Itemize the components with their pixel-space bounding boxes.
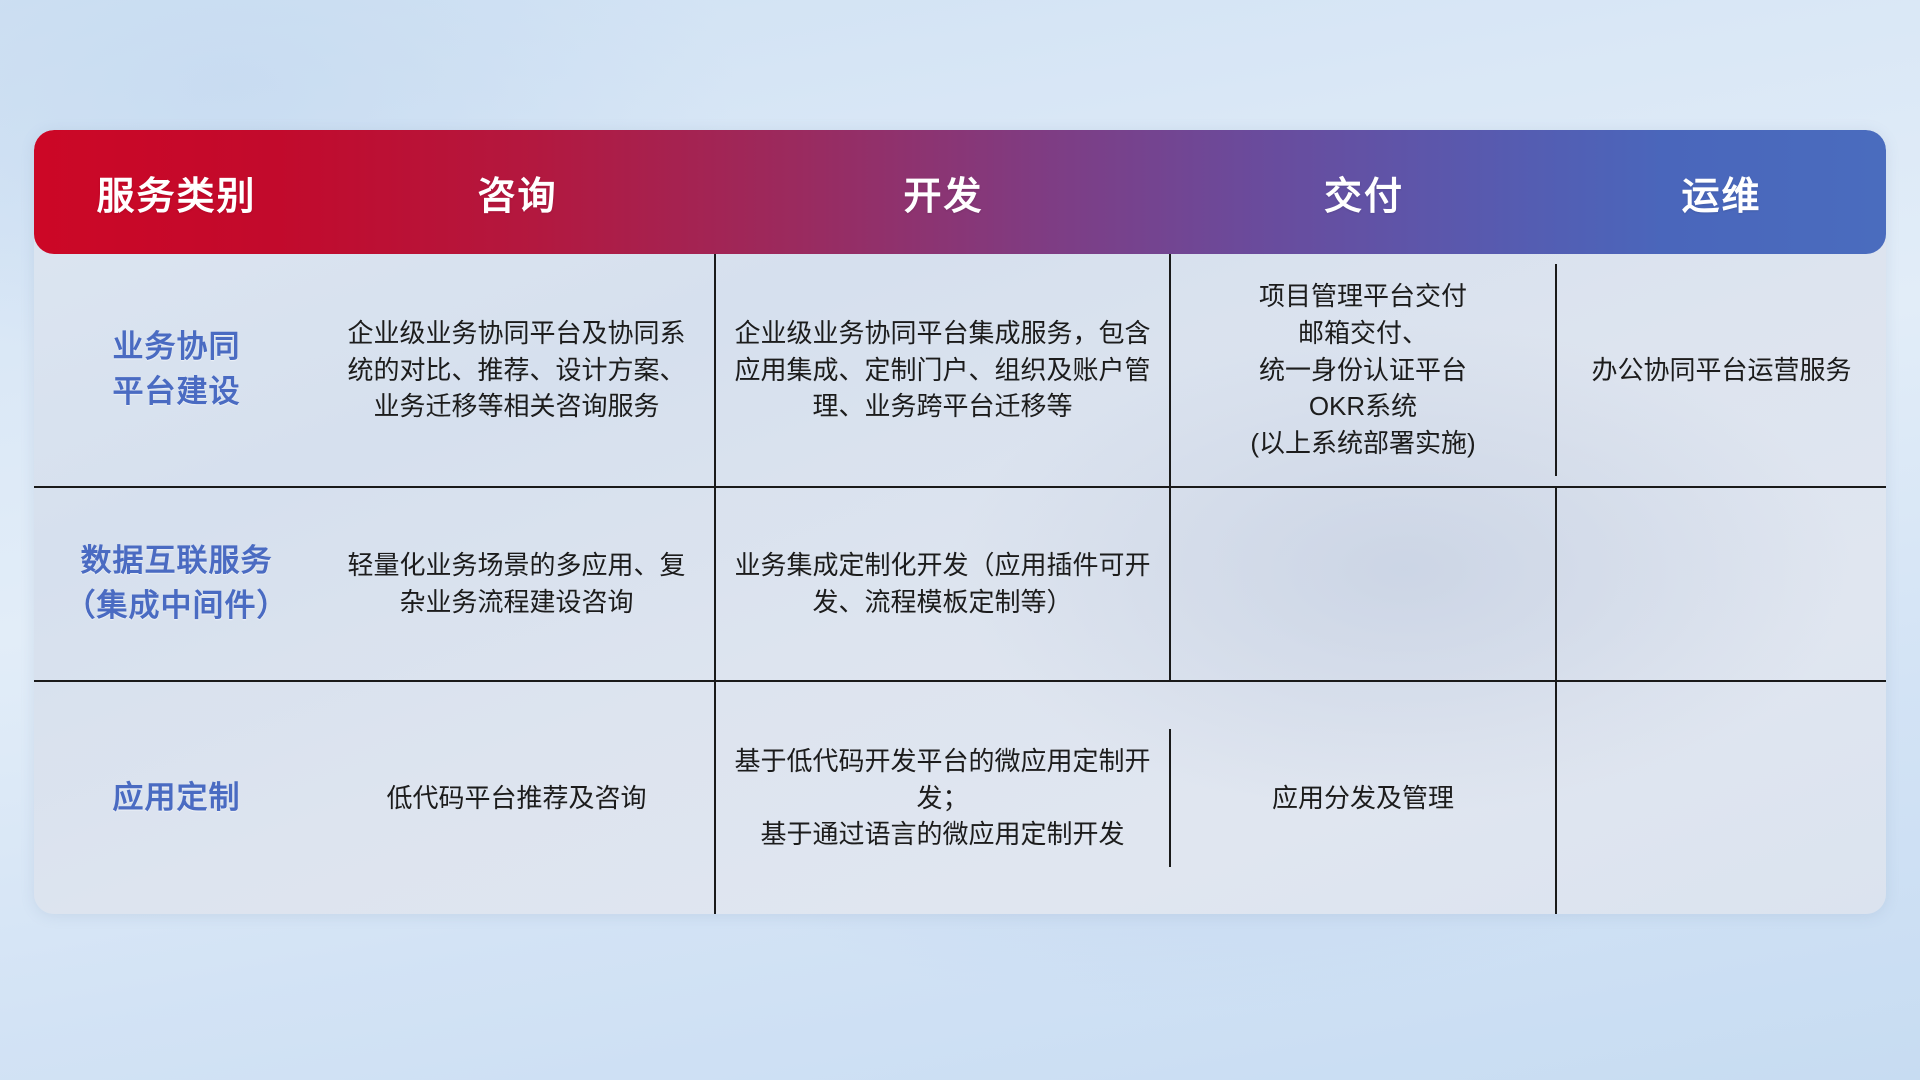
table-header-row: 服务类别 咨询 开发 交付 运维 [34, 130, 1886, 254]
table-header-cell-operations: 运维 [1557, 130, 1886, 254]
row-category-label: 业务协同平台建设 [34, 311, 319, 429]
table-header-cell-development: 开发 [716, 130, 1171, 254]
cell-consulting: 低代码平台推荐及咨询 [319, 682, 716, 914]
cell-delivery: 应用分发及管理 [1171, 682, 1557, 914]
cell-development: 业务集成定制化开发（应用插件可开发、流程模板定制等） [716, 488, 1171, 680]
table-row: 业务协同平台建设 企业级业务协同平台及协同系统的对比、推荐、设计方案、业务迁移等… [34, 254, 1886, 486]
row-category-label: 应用定制 [34, 682, 319, 914]
table-body: 业务协同平台建设 企业级业务协同平台及协同系统的对比、推荐、设计方案、业务迁移等… [34, 254, 1886, 914]
cell-delivery [1171, 488, 1557, 680]
cell-operations: 办公协同平台运营服务 [1557, 254, 1886, 486]
cell-consulting: 轻量化业务场景的多应用、复杂业务流程建设咨询 [319, 488, 716, 680]
table-row: 数据互联服务（集成中间件） 轻量化业务场景的多应用、复杂业务流程建设咨询 业务集… [34, 486, 1886, 680]
cell-development: 基于低代码开发平台的微应用定制开发；基于通过语言的微应用定制开发 [716, 729, 1171, 868]
table-header-cell-delivery: 交付 [1171, 130, 1557, 254]
cell-operations [1557, 682, 1886, 914]
cell-development: 企业级业务协同平台集成服务，包含应用集成、定制门户、组织及账户管理、业务跨平台迁… [716, 254, 1171, 486]
table-header-cell-consulting: 咨询 [319, 130, 716, 254]
row-category-label: 数据互联服务（集成中间件） [34, 525, 319, 643]
cell-consulting: 企业级业务协同平台及协同系统的对比、推荐、设计方案、业务迁移等相关咨询服务 [319, 254, 716, 486]
cell-operations [1557, 488, 1886, 680]
table-header-cell-category: 服务类别 [34, 130, 319, 254]
service-matrix-table: 服务类别 咨询 开发 交付 运维 业务协同平台建设 企业级业务协同平台及协同系统… [34, 130, 1886, 914]
table-row: 应用定制 低代码平台推荐及咨询 基于低代码开发平台的微应用定制开发；基于通过语言… [34, 680, 1886, 914]
page-canvas: 服务类别 咨询 开发 交付 运维 业务协同平台建设 企业级业务协同平台及协同系统… [0, 0, 1920, 1080]
cell-delivery: 项目管理平台交付邮箱交付、统一身份认证平台OKR系统(以上系统部署实施) [1171, 264, 1557, 477]
